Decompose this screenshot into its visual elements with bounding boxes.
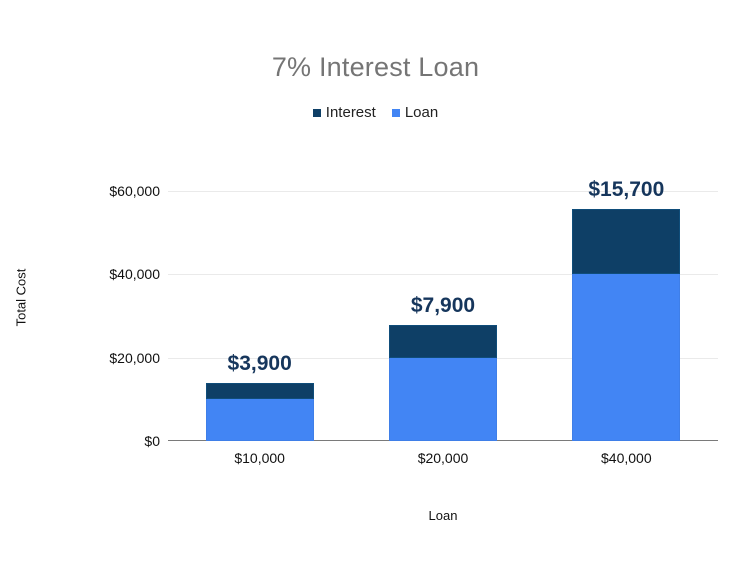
bar-stack-1[interactable] (389, 325, 497, 441)
x-tick-label-1: $20,000 (351, 450, 534, 466)
bar-group-40000: $15,700 (535, 191, 718, 441)
x-axis-title: Loan (168, 508, 718, 523)
bar-stack-0[interactable] (206, 383, 314, 441)
y-tick-label-60000: $60,000 (60, 183, 160, 199)
bar-data-label-2: $15,700 (588, 178, 664, 202)
bar-segment-loan-2[interactable] (572, 274, 680, 441)
y-tick-label-0: $0 (60, 433, 160, 449)
bar-data-label-1: $7,900 (411, 294, 475, 318)
legend-label-interest: Interest (326, 104, 376, 121)
legend-swatch-loan (392, 109, 400, 117)
legend-swatch-interest (313, 109, 321, 117)
bar-segment-interest-2[interactable] (572, 209, 680, 274)
y-tick-label-40000: $40,000 (60, 266, 160, 282)
legend-item-interest[interactable]: Interest (313, 104, 376, 121)
chart-legend: Interest Loan (0, 104, 751, 121)
bar-group-10000: $3,900 (168, 191, 351, 441)
y-tick-label-20000: $20,000 (60, 350, 160, 366)
legend-label-loan: Loan (405, 104, 438, 121)
bar-segment-loan-1[interactable] (389, 358, 497, 441)
bar-segment-interest-1[interactable] (389, 325, 497, 358)
bar-data-label-0: $3,900 (228, 352, 292, 376)
x-axis-ticks: $10,000 $20,000 $40,000 (168, 450, 718, 474)
bar-segment-loan-0[interactable] (206, 399, 314, 441)
bar-stack-2[interactable] (572, 209, 680, 441)
y-axis-ticks: $60,000 $40,000 $20,000 $0 (55, 191, 160, 441)
chart-title: 7% Interest Loan (0, 52, 751, 83)
bar-segment-interest-0[interactable] (206, 383, 314, 399)
bar-series-group: $3,900 $7,900 $15,700 (168, 191, 718, 441)
legend-item-loan[interactable]: Loan (392, 104, 438, 121)
y-axis-title: Total Cost (14, 258, 29, 338)
bar-group-20000: $7,900 (351, 191, 534, 441)
x-tick-label-0: $10,000 (168, 450, 351, 466)
chart-container: 7% Interest Loan Interest Loan $60,000 $… (0, 0, 751, 579)
x-tick-label-2: $40,000 (535, 450, 718, 466)
